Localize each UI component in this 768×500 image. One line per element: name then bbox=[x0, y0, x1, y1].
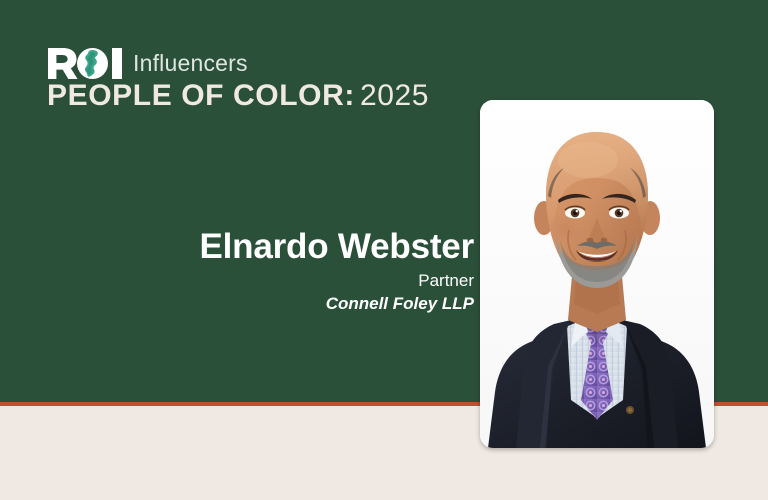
page-title-year: 2025 bbox=[360, 79, 429, 112]
roi-logo-icon bbox=[48, 48, 122, 79]
page-title-strong: PEOPLE OF COLOR: bbox=[47, 79, 355, 112]
honoree-portrait-photo bbox=[480, 100, 714, 448]
honoree-details: Elnardo Webster Partner Connell Foley LL… bbox=[54, 228, 474, 314]
honoree-name: Elnardo Webster bbox=[54, 228, 474, 266]
roi-influencers-honoree-card: Influencers PEOPLE OF COLOR:2025 Elnardo… bbox=[0, 0, 768, 500]
honoree-organization: Connell Foley LLP bbox=[54, 295, 474, 314]
brand-lockup: Influencers bbox=[48, 46, 248, 80]
page-title: PEOPLE OF COLOR:2025 bbox=[47, 80, 429, 112]
honoree-job-title: Partner bbox=[54, 272, 474, 291]
brand-wordmark-label: Influencers bbox=[133, 52, 248, 75]
